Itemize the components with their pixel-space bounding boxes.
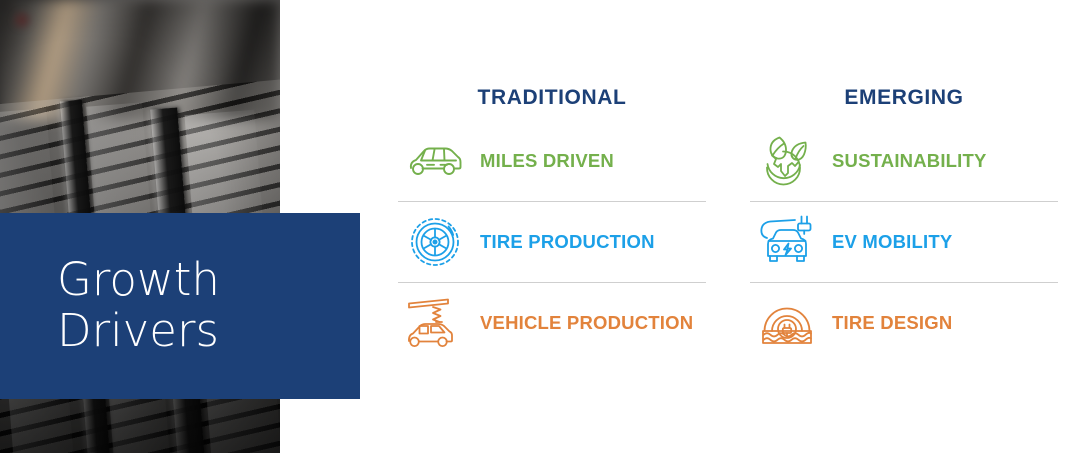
column-heading-traditional: TRADITIONAL <box>398 86 706 110</box>
driver-label: EV MOBILITY <box>832 231 952 253</box>
driver-label: TIRE DESIGN <box>832 312 952 334</box>
driver-item-tire-design[interactable]: TIRE DESIGN <box>750 283 1058 363</box>
column-heading-emerging: EMERGING <box>750 86 1058 110</box>
driver-item-tire-production[interactable]: TIRE PRODUCTION <box>398 202 706 282</box>
driver-item-miles-driven[interactable]: MILES DRIVEN <box>398 121 706 201</box>
column-emerging: EMERGING SUSTAINABILITY <box>750 86 1058 363</box>
car-side-icon <box>404 130 466 192</box>
title-block: Growth Drivers <box>0 213 360 399</box>
driver-item-sustainability[interactable]: SUSTAINABILITY <box>750 121 1058 201</box>
growth-drivers-columns: TRADITIONAL MILES DRIVEN <box>398 86 1058 363</box>
driver-label: VEHICLE PRODUCTION <box>480 312 693 334</box>
column-traditional: TRADITIONAL MILES DRIVEN <box>398 86 706 363</box>
driver-item-vehicle-production[interactable]: VEHICLE PRODUCTION <box>398 283 706 363</box>
tire-plug-tread-icon <box>756 292 818 354</box>
globe-leaves-icon <box>756 130 818 192</box>
car-on-lift-icon <box>404 292 466 354</box>
electric-car-plug-icon <box>756 211 818 273</box>
page-title: Growth Drivers <box>0 255 220 357</box>
driver-label: TIRE PRODUCTION <box>480 231 655 253</box>
tire-wheel-icon <box>404 211 466 273</box>
driver-label: MILES DRIVEN <box>480 150 614 172</box>
driver-label: SUSTAINABILITY <box>832 150 987 172</box>
driver-item-ev-mobility[interactable]: EV MOBILITY <box>750 202 1058 282</box>
